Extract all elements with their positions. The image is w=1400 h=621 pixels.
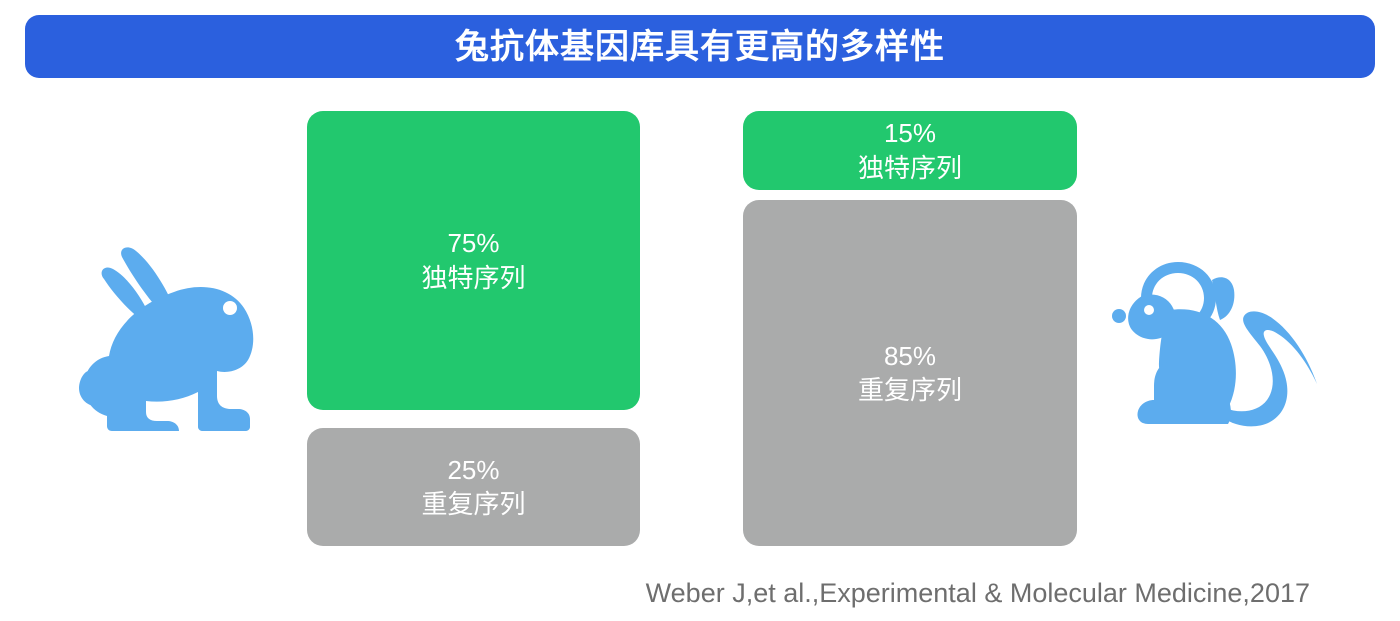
mouse-unique-sequence-block: 15% 独特序列: [743, 111, 1077, 190]
mouse-unique-percent: 15%: [884, 116, 936, 150]
rabbit-unique-sequence-block: 75% 独特序列: [307, 111, 640, 410]
mouse-unique-label: 独特序列: [858, 151, 962, 185]
rabbit-unique-label: 独特序列: [421, 261, 525, 295]
rabbit-icon: [78, 246, 278, 431]
mouse-icon: [1112, 258, 1337, 433]
title-banner: 兔抗体基因库具有更高的多样性: [25, 15, 1375, 78]
rabbit-repeat-label: 重复序列: [421, 487, 525, 521]
rabbit-unique-percent: 75%: [447, 226, 499, 260]
page-title: 兔抗体基因库具有更高的多样性: [455, 30, 945, 64]
rabbit-repeat-percent: 25%: [447, 453, 499, 487]
mouse-repeat-percent: 85%: [884, 339, 936, 373]
mouse-repeat-sequence-block: 85% 重复序列: [743, 200, 1077, 546]
citation-text: Weber J,et al.,Experimental & Molecular …: [0, 578, 1310, 609]
rabbit-repeat-sequence-block: 25% 重复序列: [307, 428, 640, 546]
mouse-repeat-label: 重复序列: [858, 373, 962, 407]
